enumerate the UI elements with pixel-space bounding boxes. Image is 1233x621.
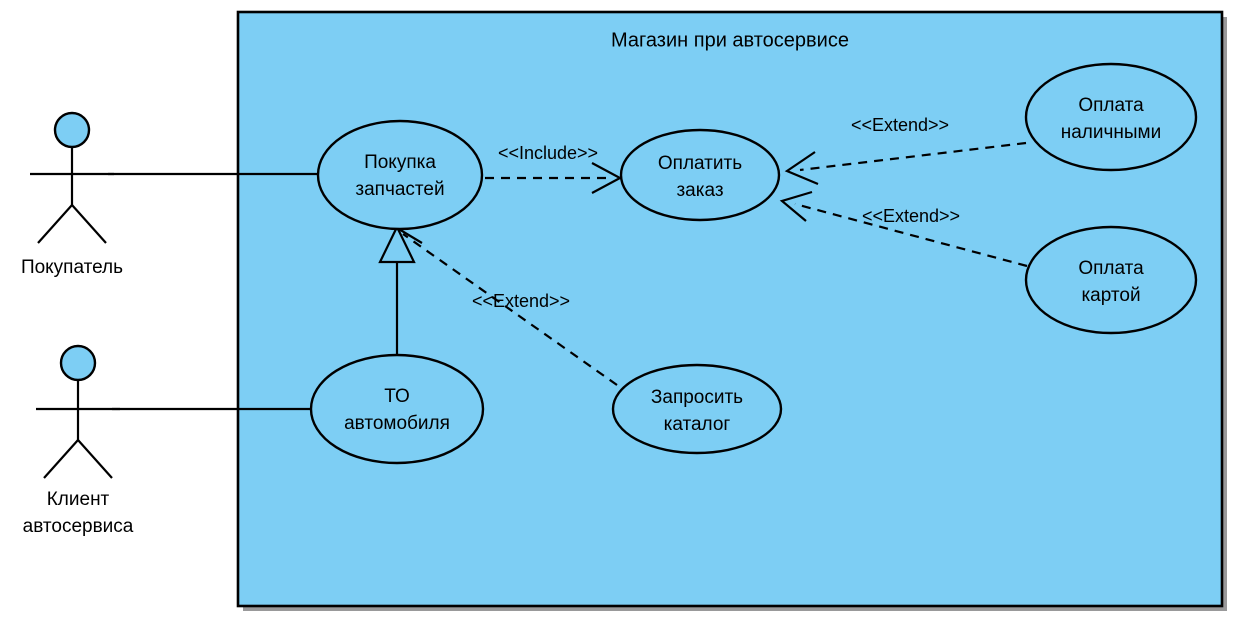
use-case-maintenance-label-line2: автомобиля — [344, 413, 450, 434]
use-case-catalog-label-line2: каталог — [664, 414, 731, 435]
use-case-ellipse — [311, 355, 483, 463]
extend-card-stereotype-label: <<Extend>> — [862, 206, 960, 226]
use-case-pay-order-label-line2: заказ — [676, 180, 723, 201]
extend-cash-stereotype-label: <<Extend>> — [851, 115, 949, 135]
actor-head-icon — [55, 113, 89, 147]
use-case-buy-parts[interactable]: Покупка запчастей — [318, 121, 482, 229]
use-case-pay-card-label-line1: Оплата — [1078, 258, 1144, 279]
actor-buyer-label: Покупатель — [21, 257, 123, 278]
include-stereotype-label: <<Include>> — [498, 143, 598, 163]
actor-left-leg-line — [38, 205, 72, 243]
use-case-pay-card-label-line2: картой — [1081, 285, 1140, 306]
use-case-pay-order-label-line1: Оплатить — [658, 153, 742, 174]
actor-buyer[interactable]: Покупатель — [21, 113, 123, 278]
use-case-pay-card[interactable]: Оплата картой — [1026, 227, 1196, 333]
use-case-pay-cash-label-line1: Оплата — [1078, 95, 1144, 116]
use-case-request-catalog[interactable]: Запросить каталог — [613, 365, 781, 453]
use-case-pay-order[interactable]: Оплатить заказ — [621, 130, 779, 220]
use-case-maintenance-label-line1: ТО — [384, 386, 410, 407]
system-title: Магазин при автосервисе — [611, 29, 849, 51]
use-case-ellipse — [621, 130, 779, 220]
use-case-buy-parts-label-line1: Покупка — [364, 152, 436, 173]
use-case-diagram-root: Магазин при автосервисе Покупатель Клиен… — [0, 0, 1233, 621]
actor-service-client[interactable]: Клиент автосервиса — [23, 346, 134, 537]
use-case-ellipse — [1026, 227, 1196, 333]
extend-catalog-stereotype-label: <<Extend>> — [472, 291, 570, 311]
actor-head-icon — [61, 346, 95, 380]
use-case-pay-cash-label-line2: наличными — [1061, 122, 1161, 143]
actor-client-label-line1: Клиент — [47, 489, 110, 510]
use-case-car-maintenance[interactable]: ТО автомобиля — [311, 355, 483, 463]
use-case-ellipse — [1026, 64, 1196, 170]
use-case-ellipse — [613, 365, 781, 453]
actor-right-leg-line — [72, 205, 106, 243]
diagram-canvas: Магазин при автосервисе Покупатель Клиен… — [0, 0, 1233, 621]
actor-right-leg-line — [78, 440, 112, 478]
use-case-ellipse — [318, 121, 482, 229]
actor-left-leg-line — [44, 440, 78, 478]
use-case-catalog-label-line1: Запросить — [651, 387, 743, 408]
use-case-pay-cash[interactable]: Оплата наличными — [1026, 64, 1196, 170]
actor-client-label-line2: автосервиса — [23, 516, 134, 537]
use-case-buy-parts-label-line2: запчастей — [355, 179, 444, 200]
